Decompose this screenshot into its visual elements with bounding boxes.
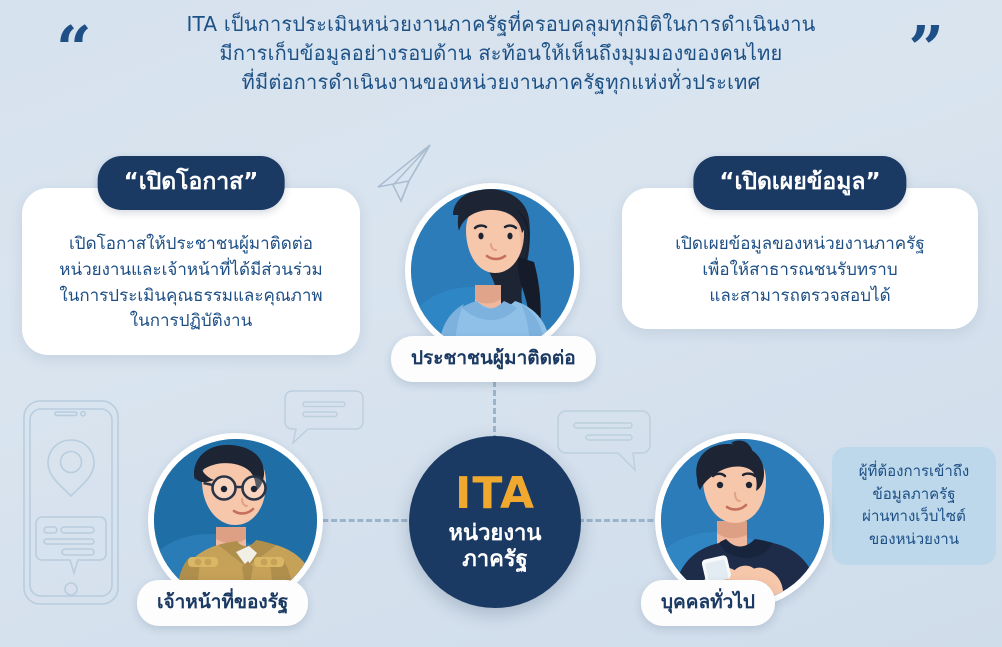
government-officer-avatar [154,439,317,602]
label-official: เจ้าหน้าที่ของรัฐ [137,580,308,626]
ita-subtitle: หน่วยงาน ภาครัฐ [449,521,542,572]
note-website-access: ผู้ที่ต้องการเข้าถึง ข้อมูลภาครัฐ ผ่านทา… [832,447,996,565]
card-open-data-body: เปิดเผยข้อมูลของหน่วยงานภาครัฐ เพื่อให้ส… [638,232,962,309]
woman-avatar [411,189,574,352]
label-citizen: ประชาชนผู้มาติดต่อ [391,336,596,382]
man-with-phone-avatar [661,439,824,602]
card-open-data-title: “เปิดเผยข้อมูล” [693,156,906,210]
card-open-data: “เปิดเผยข้อมูล” เปิดเผยข้อมูลของหน่วยงาน… [622,188,978,329]
card-open-opportunity: “เปิดโอกาส” เปิดโอกาสให้ประชาชนผู้มาติดต… [22,188,360,355]
header-line-3: ที่มีต่อการดำเนินงานของหน่วยงานภาครัฐทุก… [70,68,932,97]
avatar-citizen [405,183,580,358]
chat-bubble-outline-icon-right [556,408,656,482]
card-open-opportunity-title: “เปิดโอกาส” [98,156,285,210]
label-public: บุคคลทั่วไป [641,580,775,626]
quote-open-mark: “ [56,18,92,80]
quote-close-mark: ” [908,18,944,80]
smartphone-outline-icon [6,395,136,614]
center-ita-circle: ITA หน่วยงาน ภาครัฐ [409,436,581,608]
ita-acronym: ITA [455,472,535,516]
card-open-opportunity-body: เปิดโอกาสให้ประชาชนผู้มาติดต่อ หน่วยงานแ… [38,232,344,335]
avatar-ring [405,183,580,358]
header-line-1: ITA เป็นการประเมินหน่วยงานภาครัฐที่ครอบค… [70,10,932,39]
header-line-2: มีการเก็บข้อมูลอย่างรอบด้าน สะท้อนให้เห็… [70,39,932,68]
header-quote-block: “ ” ITA เป็นการประเมินหน่วยงานภาครัฐที่ค… [0,10,1002,97]
